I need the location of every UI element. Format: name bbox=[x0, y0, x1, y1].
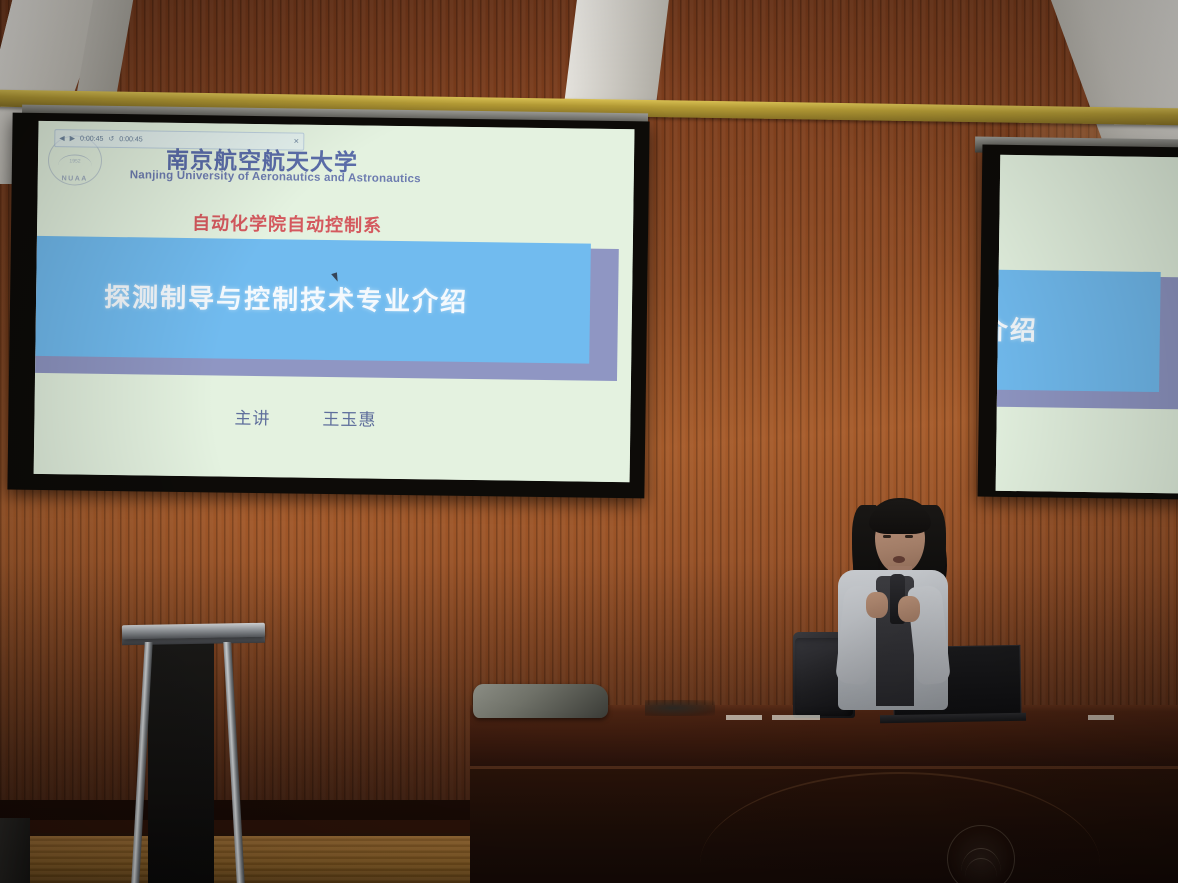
total-time-label: 0:00:45 bbox=[119, 136, 142, 143]
jacket-on-table bbox=[473, 684, 608, 718]
current-time-label: 0:00:45 bbox=[80, 135, 103, 142]
previous-icon[interactable]: ◀ bbox=[59, 134, 65, 142]
presenter-eye-right bbox=[905, 535, 913, 538]
presenter-eye-left bbox=[883, 535, 891, 538]
presenter-name: 王玉惠 bbox=[322, 405, 376, 431]
loop-icon[interactable]: ↺ bbox=[108, 135, 114, 143]
stage-table bbox=[470, 712, 1178, 772]
projection-screen-left: 1952 NUAA ◀ ▶ 0:00:45 ↺ 0:00:45 ✕ 南京航空航天… bbox=[7, 113, 649, 499]
projection-screen-right: 1952 NUAA ◀ ▶ 0:00:45 ↺ 0:00:45 ✕ 南京航空航天… bbox=[978, 145, 1178, 500]
department-name-cn: 自动化学院自动控制系 bbox=[192, 209, 382, 238]
presenter-hand-left bbox=[866, 592, 888, 618]
slide-title: 探测制导与控制技术专业介绍 bbox=[104, 277, 468, 319]
slide-title-right: 探测制导与控制技术专业介绍 bbox=[996, 305, 1039, 347]
nuaa-logo-text: NUAA bbox=[49, 175, 101, 183]
play-icon[interactable]: ▶ bbox=[70, 134, 76, 142]
presenter-hand-right bbox=[898, 596, 920, 622]
lectern-body bbox=[148, 640, 214, 883]
paper-sheet bbox=[772, 715, 820, 720]
floor-equipment-box bbox=[0, 818, 30, 883]
nuaa-logo-year: 1952 bbox=[49, 158, 101, 165]
cables-on-table bbox=[645, 700, 715, 716]
lectern-top bbox=[122, 623, 265, 639]
slide-left: 1952 NUAA ◀ ▶ 0:00:45 ↺ 0:00:45 ✕ 南京航空航天… bbox=[34, 121, 635, 482]
lecture-hall-scene: 1952 NUAA ◀ ▶ 0:00:45 ↺ 0:00:45 ✕ 南京航空航天… bbox=[0, 0, 1178, 883]
presenter-label: 主讲 bbox=[234, 404, 270, 430]
slide-right: 1952 NUAA ◀ ▶ 0:00:45 ↺ 0:00:45 ✕ 南京航空航天… bbox=[996, 155, 1178, 494]
paper-sheet bbox=[1088, 715, 1114, 720]
stage-front-edge bbox=[470, 766, 1178, 769]
paper-sheet bbox=[726, 715, 762, 720]
presenter-mouth bbox=[893, 556, 905, 563]
